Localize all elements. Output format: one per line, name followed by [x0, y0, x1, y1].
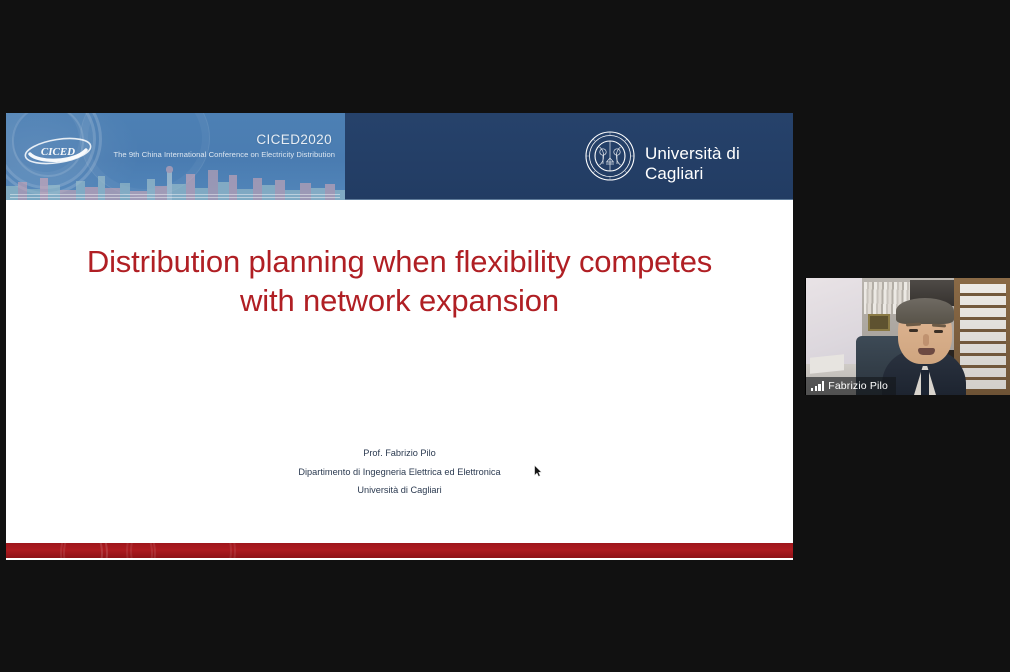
slide-title-line-2: with network expansion	[46, 281, 753, 320]
participant-video-tile[interactable]: Fabrizio Pilo	[805, 278, 1010, 395]
background-picture-frame	[868, 314, 890, 331]
slide-bottom-edge	[6, 558, 793, 560]
ciced-logo-icon: CICED	[22, 136, 94, 166]
slide-title: Distribution planning when flexibility c…	[46, 242, 753, 320]
university-crest-icon	[585, 131, 635, 181]
conference-name: CICED2020	[256, 132, 332, 147]
footer-watermark-decoration-3	[126, 543, 236, 558]
svg-text:CICED: CICED	[41, 146, 75, 158]
participant-tie	[921, 370, 929, 395]
author-department: Dipartimento di Ingegneria Elettrica ed …	[46, 463, 753, 482]
screen-share-viewport: CICED CICED2020 The 9th China Internatio…	[0, 0, 1010, 672]
participant-mouth	[918, 348, 935, 355]
conference-subtitle: The 9th China International Conference o…	[113, 150, 335, 159]
slide-title-line-1: Distribution planning when flexibility c…	[46, 242, 753, 281]
signal-bars-icon	[811, 381, 824, 391]
slide-header-banner: CICED CICED2020 The 9th China Internatio…	[6, 113, 793, 200]
conference-branding-panel: CICED CICED2020 The 9th China Internatio…	[6, 113, 345, 200]
author-block: Prof. Fabrizio Pilo Dipartimento di Inge…	[46, 444, 753, 500]
participant-name: Fabrizio Pilo	[828, 380, 888, 392]
slide-footer-bar	[6, 543, 793, 558]
mouse-pointer-icon	[534, 465, 542, 477]
author-name: Prof. Fabrizio Pilo	[46, 444, 753, 463]
participant-eye-left	[909, 329, 918, 332]
author-institution: Università di Cagliari	[46, 481, 753, 500]
participant-name-label: Fabrizio Pilo	[806, 377, 896, 395]
participant-eye-right	[934, 330, 943, 333]
background-bookcase-shelves	[960, 284, 1006, 389]
participant-nose	[923, 334, 929, 346]
presentation-slide[interactable]: CICED CICED2020 The 9th China Internatio…	[6, 113, 793, 560]
university-name: Università di Cagliari	[645, 144, 793, 184]
participant-hair	[896, 298, 954, 324]
university-branding-panel: Università di Cagliari	[345, 113, 793, 200]
cityscape-silhouette-icon	[6, 164, 345, 200]
